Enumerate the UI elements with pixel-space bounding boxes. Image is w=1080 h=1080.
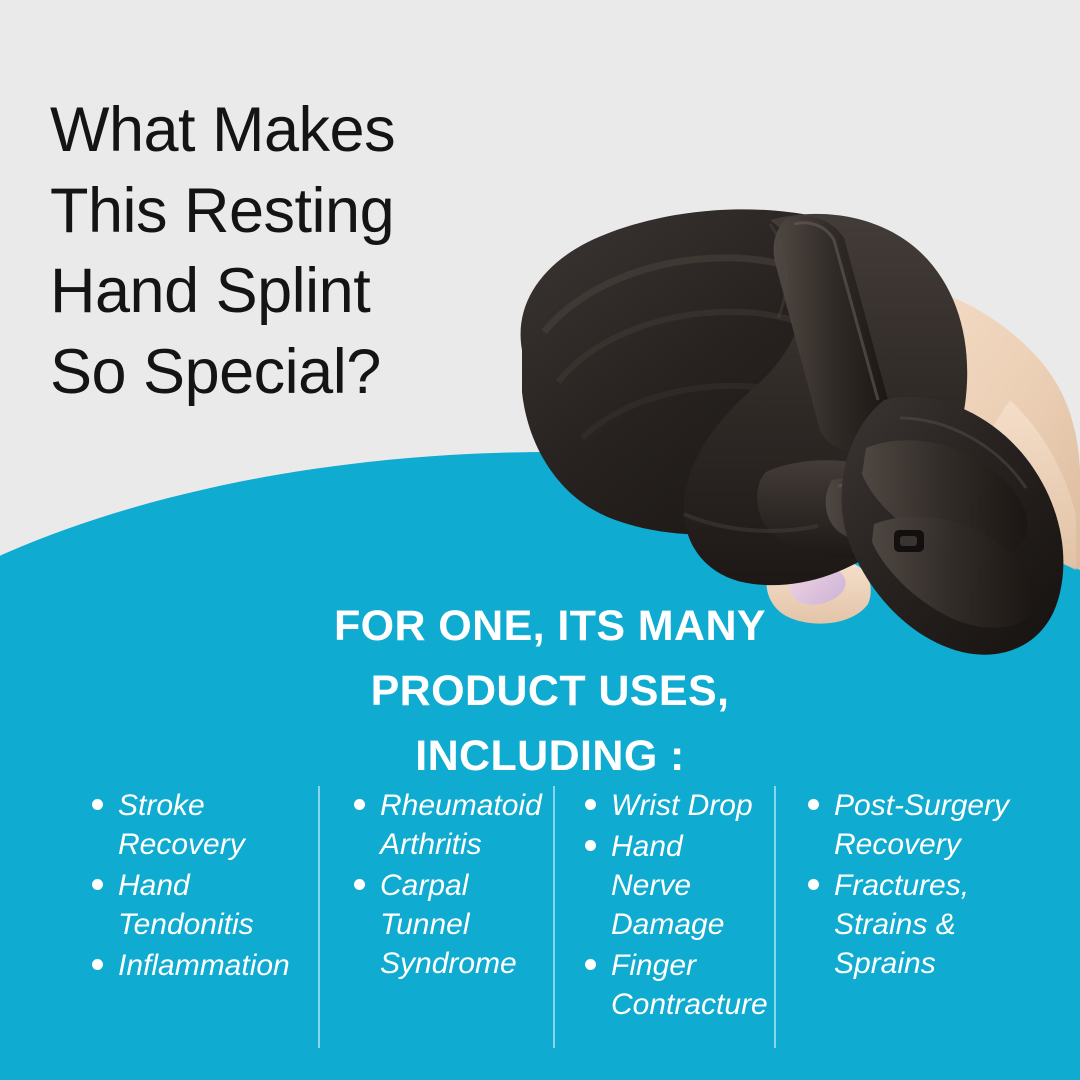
uses-column-3: Wrist Drop Hand Nerve Damage Finger Cont… (555, 786, 776, 1048)
bullet-dot-icon (585, 959, 596, 970)
uses-heading: FOR ONE, ITS MANY PRODUCT USES, INCLUDIN… (200, 594, 900, 790)
uses-columns: Stroke Recovery Hand Tendonitis Inflamma… (64, 786, 1024, 1048)
list-item: Fractures, Strains & Sprains (802, 866, 1010, 983)
list-item: Finger Contracture (579, 946, 762, 1024)
list-item: Wrist Drop (579, 786, 762, 825)
bullet-dot-icon (585, 840, 596, 851)
bullet-dot-icon (808, 799, 819, 810)
list-item-label: Hand Nerve Damage (611, 830, 724, 941)
list-item: Post-Surgery Recovery (802, 786, 1010, 864)
uses-list-2: Rheumatoid Arthritis Carpal Tunnel Syndr… (348, 786, 541, 983)
bullet-dot-icon (92, 879, 103, 890)
list-item: Hand Tendonitis (86, 866, 306, 944)
bullet-dot-icon (585, 799, 596, 810)
hand-splint-photo (470, 100, 1080, 660)
product-infographic-poster: What Makes This Resting Hand Splint So S… (0, 0, 1080, 1080)
list-item-label: Inflammation (118, 949, 290, 982)
list-item-label: Hand Tendonitis (118, 869, 254, 941)
bullet-dot-icon (354, 879, 365, 890)
list-item-label: Finger Contracture (611, 949, 768, 1021)
list-item: Carpal Tunnel Syndrome (348, 866, 541, 983)
list-item-label: Post-Surgery Recovery (834, 789, 1009, 861)
list-item: Stroke Recovery (86, 786, 306, 864)
list-item-label: Fractures, Strains & Sprains (834, 869, 969, 980)
list-item-label: Stroke Recovery (118, 789, 245, 861)
list-item: Inflammation (86, 946, 306, 985)
bullet-dot-icon (92, 799, 103, 810)
headline-line-4: So Special? (50, 332, 520, 413)
bullet-dot-icon (92, 959, 103, 970)
list-item: Rheumatoid Arthritis (348, 786, 541, 864)
bullet-dot-icon (808, 879, 819, 890)
uses-list-1: Stroke Recovery Hand Tendonitis Inflamma… (86, 786, 306, 985)
uses-list-3: Wrist Drop Hand Nerve Damage Finger Cont… (579, 786, 762, 1024)
headline-line-2: This Resting (50, 171, 520, 252)
headline-line-1: What Makes (50, 90, 520, 171)
page-title: What Makes This Resting Hand Splint So S… (50, 90, 520, 413)
uses-list-4: Post-Surgery Recovery Fractures, Strains… (802, 786, 1010, 983)
bullet-dot-icon (354, 799, 365, 810)
headline-line-3: Hand Splint (50, 251, 520, 332)
list-item-label: Rheumatoid Arthritis (380, 789, 542, 861)
list-item-label: Carpal Tunnel Syndrome (380, 869, 517, 980)
uses-heading-line-2: PRODUCT USES, (200, 659, 900, 724)
uses-heading-line-1: FOR ONE, ITS MANY (200, 594, 900, 659)
list-item: Hand Nerve Damage (579, 827, 762, 944)
uses-column-2: Rheumatoid Arthritis Carpal Tunnel Syndr… (320, 786, 555, 1048)
list-item-label: Wrist Drop (611, 789, 753, 822)
uses-heading-line-3: INCLUDING : (200, 724, 900, 789)
uses-column-1: Stroke Recovery Hand Tendonitis Inflamma… (64, 786, 320, 1048)
uses-column-4: Post-Surgery Recovery Fractures, Strains… (776, 786, 1024, 1048)
